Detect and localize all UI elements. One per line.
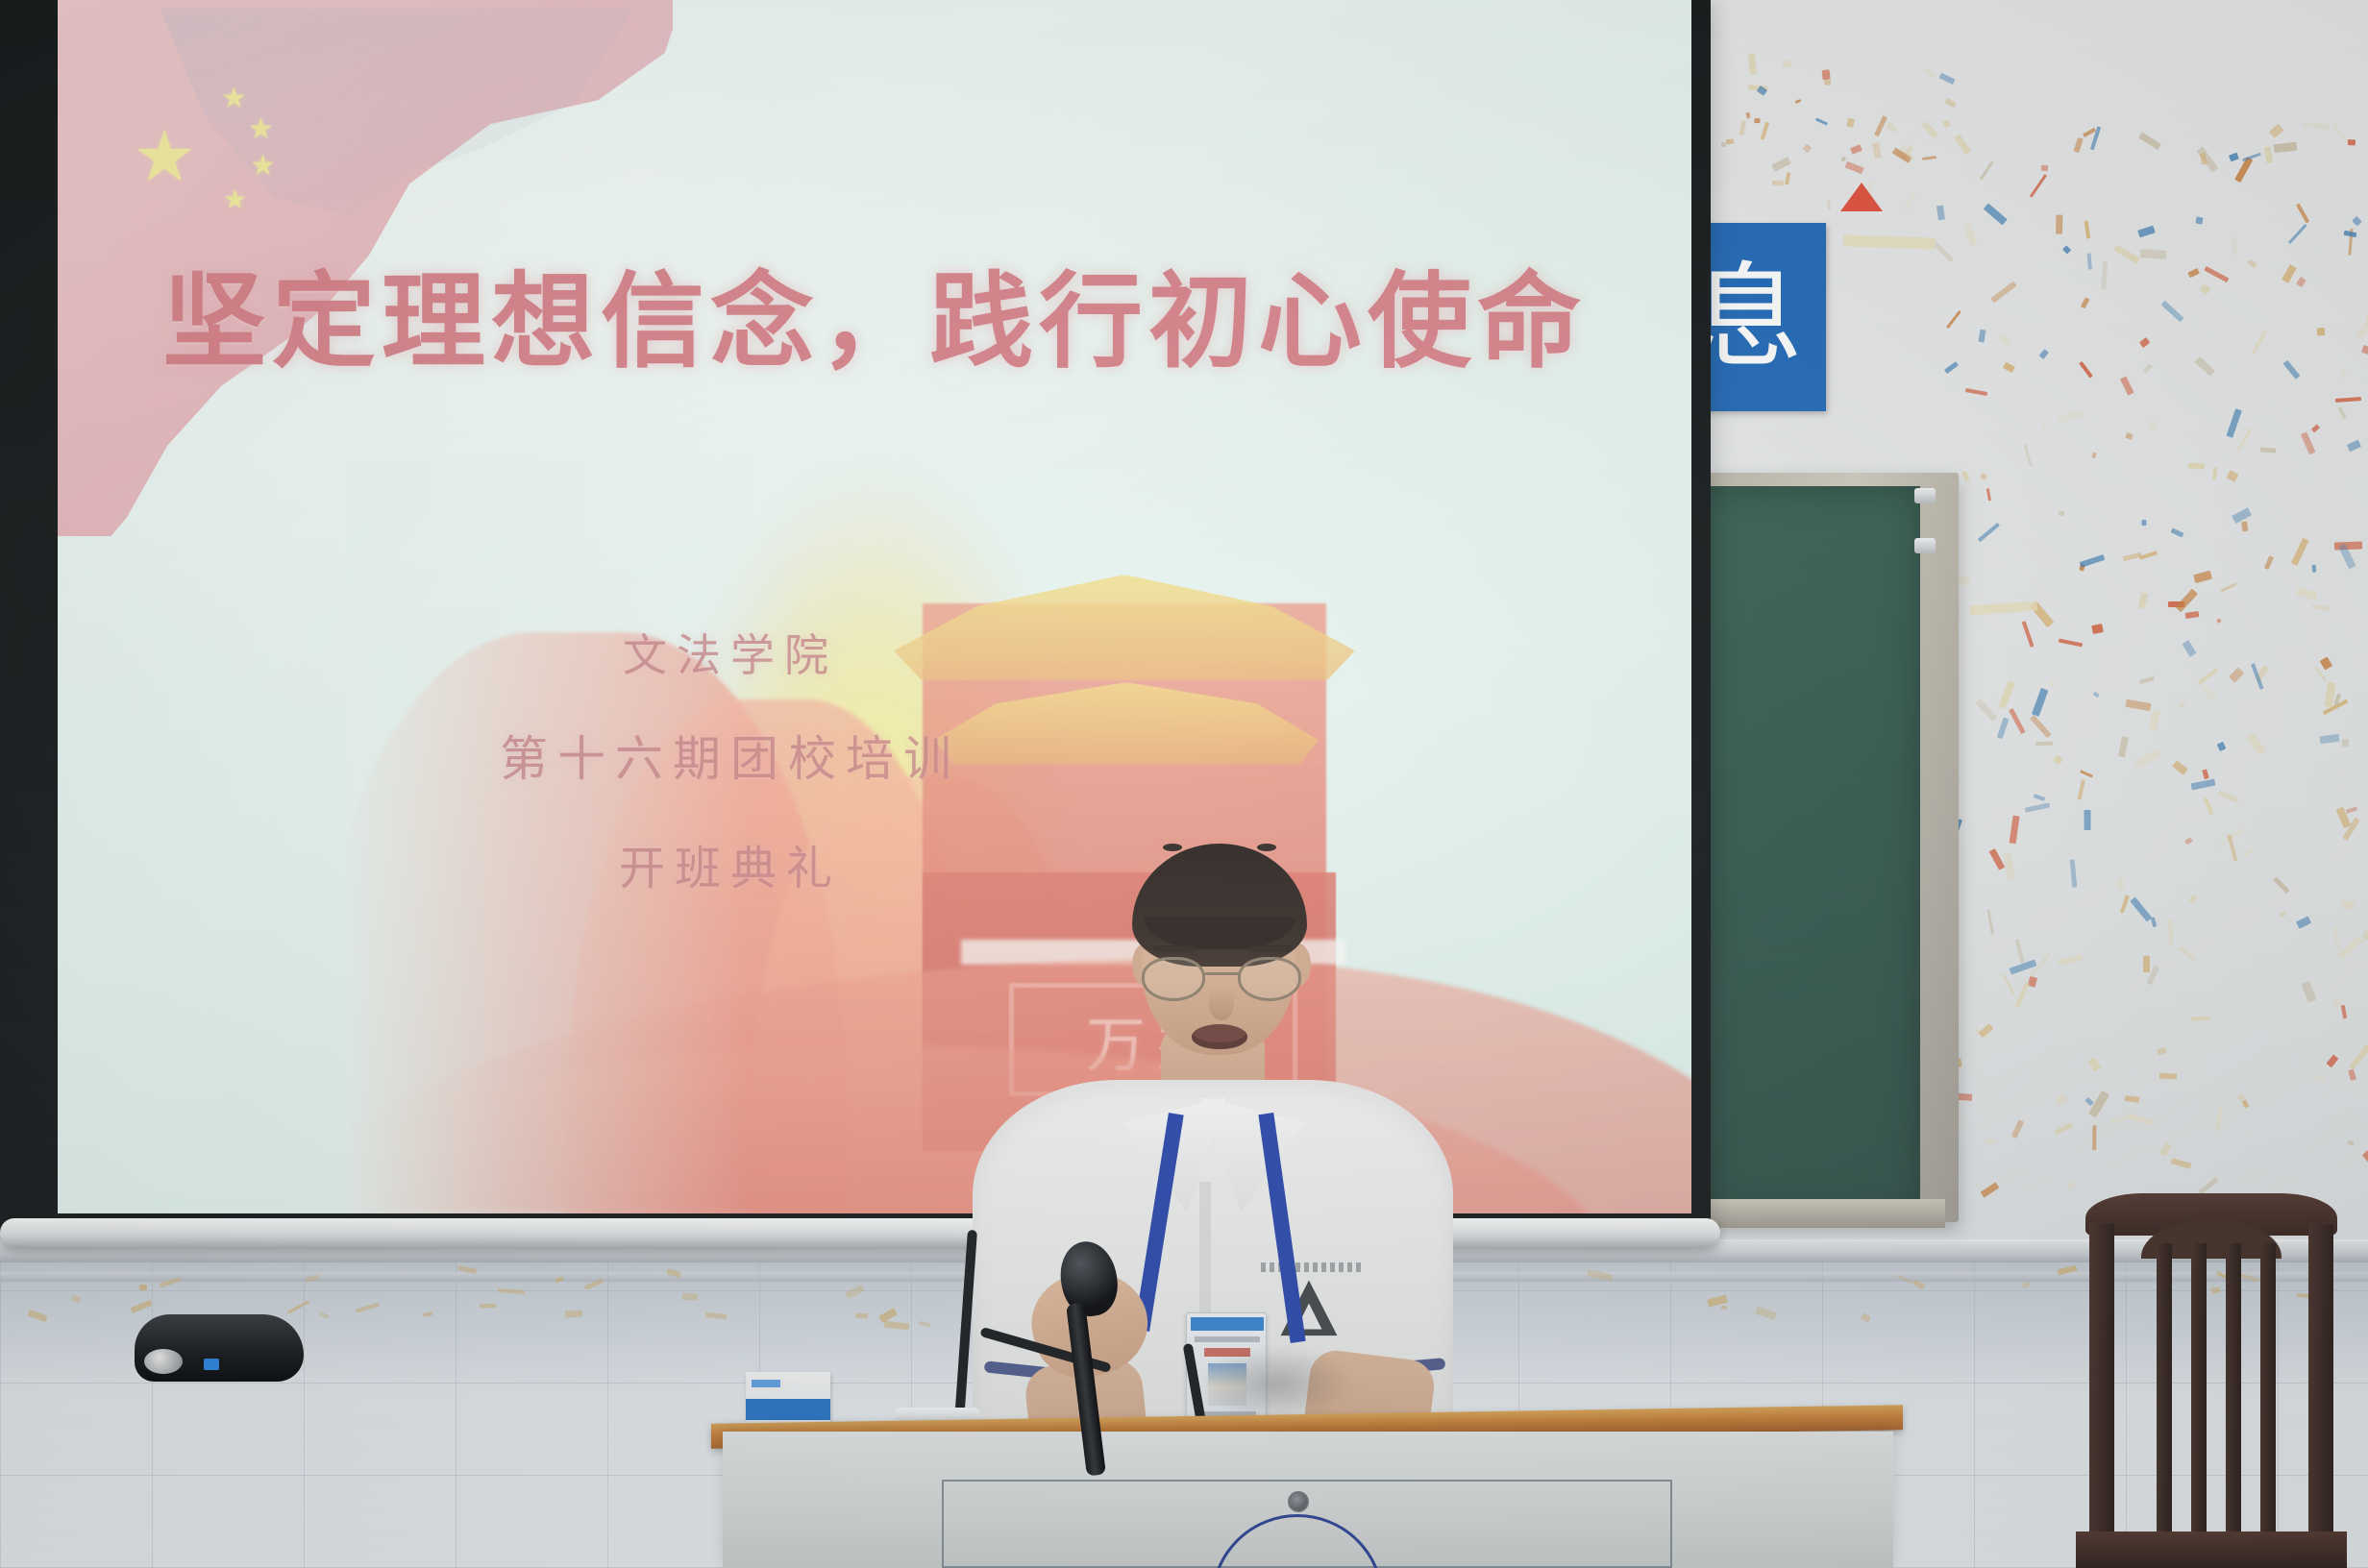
- lens-left: [1142, 957, 1205, 1001]
- slide-subtitle-1: 文法学院: [346, 621, 1115, 684]
- confetti-fleck: [2342, 900, 2356, 910]
- confetti-fleck: [2140, 249, 2166, 258]
- chair-stile: [2089, 1224, 2114, 1539]
- shirt-placket: [1199, 1182, 1211, 1326]
- chair-stile: [2308, 1224, 2333, 1539]
- microphone-base-connector: [144, 1349, 183, 1374]
- confetti-fleck: [2035, 741, 2053, 746]
- red-triangle-sticker: [1840, 183, 1883, 211]
- confetti-fleck: [1821, 69, 1830, 80]
- eye-left: [1163, 844, 1182, 851]
- badge-org-line: [1195, 1336, 1260, 1342]
- eyebrow-left: [1153, 945, 1196, 952]
- confetti-fleck: [2058, 510, 2064, 516]
- wooden-chair: [2085, 1193, 2337, 1568]
- chair-slat: [2260, 1243, 2276, 1531]
- confetti-fleck: [2143, 956, 2150, 972]
- confetti-fleck: [2341, 738, 2349, 747]
- mouth: [1192, 1024, 1247, 1049]
- confetti-fleck: [2092, 1125, 2096, 1151]
- chalk-box-logo-band: [752, 1380, 780, 1387]
- board-clip: [1914, 488, 1936, 503]
- badge-header-band: [1191, 1317, 1264, 1331]
- green-chalkboard: [1699, 486, 1920, 1216]
- chair-seat: [2076, 1531, 2347, 1568]
- confetti-fleck: [2312, 1076, 2327, 1082]
- wall-smudge: [1199, 1345, 1353, 1422]
- nose: [1209, 988, 1234, 1020]
- confetti-fleck: [2141, 519, 2147, 525]
- confetti-fleck: [1748, 54, 1757, 74]
- chair-slat: [2191, 1243, 2207, 1531]
- projection-screen: 万岁 ★ ★ ★ ★ ★ 坚定理想信念，践行初心使命 文法学院 第十六期团校培训: [0, 0, 1711, 1232]
- confetti-fleck: [2232, 237, 2237, 255]
- confetti-fleck: [2316, 327, 2325, 334]
- confetti-fleck: [2273, 141, 2297, 152]
- board-clip: [1914, 538, 1936, 553]
- chalk-box-label-band: [746, 1399, 830, 1420]
- screen-weight-bar: [0, 1218, 1720, 1247]
- confetti-fleck: [2056, 215, 2063, 234]
- eyebrow-right: [1249, 945, 1292, 952]
- slide-title: 坚定理想信念，践行初心使命: [58, 238, 1691, 388]
- polo-logo-text: [1261, 1262, 1361, 1272]
- chair-slat: [2226, 1243, 2241, 1531]
- confetti-fleck: [2125, 1095, 2140, 1103]
- glasses-bridge: [1203, 972, 1240, 975]
- confetti-fleck: [2312, 565, 2316, 574]
- confetti-fleck: [2041, 165, 2049, 171]
- confetti-fleck: [2348, 139, 2356, 146]
- confetti-fleck: [2117, 879, 2125, 891]
- confetti-fleck: [2084, 810, 2091, 830]
- slide-subtitle-2: 第十六期团校培训: [346, 721, 1115, 790]
- debris-fleck: [855, 1312, 868, 1318]
- microphone-led-indicator: [204, 1359, 219, 1370]
- debris-fleck: [565, 1310, 582, 1316]
- debris-fleck: [1720, 1305, 1726, 1310]
- eye-right: [1257, 844, 1276, 851]
- chair-slat: [2157, 1243, 2172, 1531]
- lens-right: [1238, 957, 1301, 1001]
- confetti-fleck: [1782, 60, 1790, 67]
- confetti-fleck: [2091, 624, 2104, 634]
- photo-scene: 息 万岁: [0, 0, 2368, 1568]
- confetti-fleck: [1754, 118, 1760, 123]
- lectern-screw: [1288, 1491, 1309, 1512]
- chalk-tray: [1695, 1199, 1945, 1228]
- confetti-fleck: [2169, 919, 2173, 946]
- debris-fleck: [681, 1293, 697, 1301]
